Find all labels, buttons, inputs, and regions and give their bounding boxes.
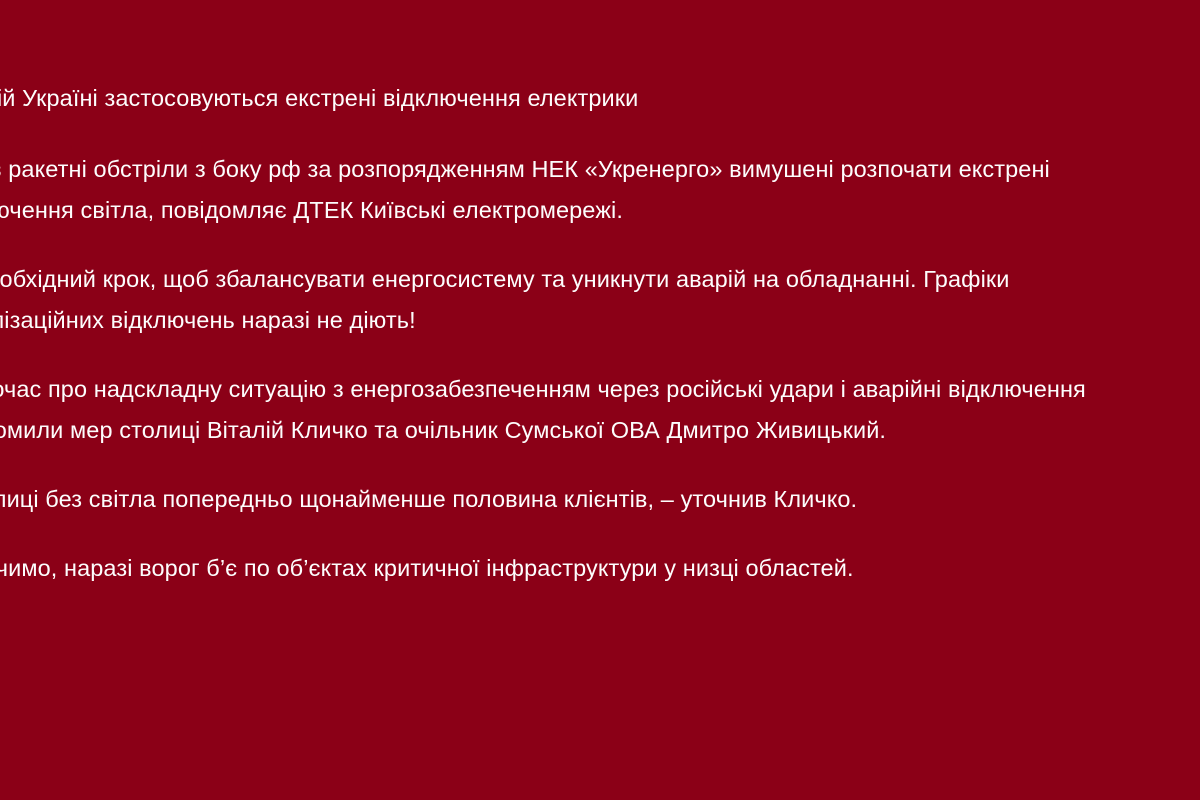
article-headline: По всій Україні застосовуються екстрені …: [0, 78, 1200, 119]
article-paragraph-4: У столиці без світла попередньо щонаймен…: [0, 479, 1200, 520]
article-paragraph-5: Як бачимо, наразі ворог б’є по об’єктах …: [0, 548, 1200, 589]
paragraph-line: повідомили мер столиці Віталій Кличко та…: [0, 410, 1200, 451]
paragraph-line: Як бачимо, наразі ворог б’є по об’єктах …: [0, 548, 1200, 589]
paragraph-line: Це необхідний крок, щоб збалансувати ене…: [0, 259, 1200, 300]
paragraph-line: відключення світла, повідомляє ДТЕК Київ…: [0, 190, 1200, 231]
paragraph-line: У столиці без світла попередньо щонаймен…: [0, 479, 1200, 520]
paragraph-line: стабілізаційних відключень наразі не дію…: [0, 300, 1200, 341]
headline-line: По всій Україні застосовуються екстрені …: [0, 78, 1200, 119]
article-paragraph-1: Через ракетні обстріли з боку рф за розп…: [0, 149, 1200, 231]
article-paragraph-3: Водночас про надскладну ситуацію з енерг…: [0, 369, 1200, 451]
paragraph-line: Через ракетні обстріли з боку рф за розп…: [0, 149, 1200, 190]
article-body: По всій Україні застосовуються екстрені …: [0, 78, 1200, 589]
article-paragraph-2: Це необхідний крок, щоб збалансувати ене…: [0, 259, 1200, 341]
article-screen: По всій Україні застосовуються екстрені …: [0, 0, 1200, 800]
paragraph-line: Водночас про надскладну ситуацію з енерг…: [0, 369, 1200, 410]
